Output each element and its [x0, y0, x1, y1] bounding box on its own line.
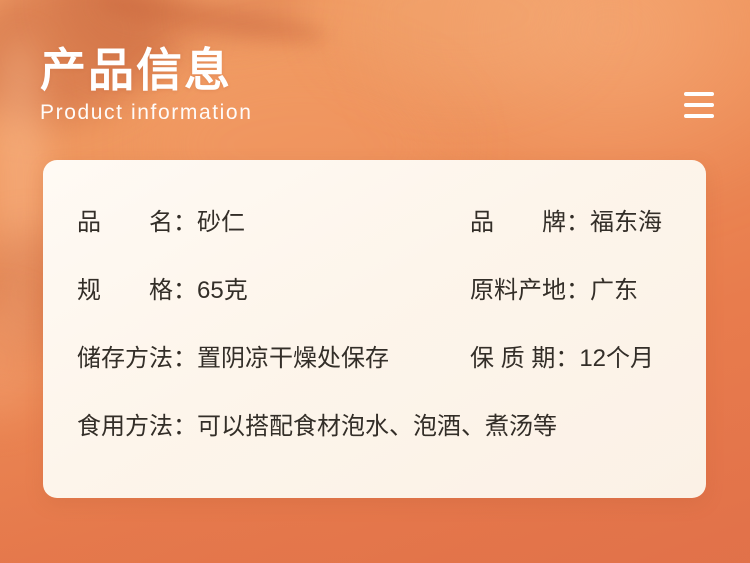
hamburger-bar-top — [684, 92, 714, 96]
product-info-card: 品 名：砂仁 品 牌：福东海 规 格：65克 原料产地：广东 储存方法：置阴凉干… — [43, 160, 706, 498]
product-information-page: 产品信息 Product information 品 名：砂仁 品 牌：福东海 … — [0, 0, 750, 563]
info-field-specification: 规 格：65克 — [77, 276, 248, 306]
hamburger-bar-middle — [684, 103, 714, 107]
hamburger-menu-icon[interactable] — [678, 84, 720, 126]
page-subtitle: Product information — [40, 100, 253, 126]
info-field-brand: 品 牌：福东海 — [470, 208, 662, 238]
page-header: 产品信息 Product information — [40, 44, 253, 126]
hamburger-bar-bottom — [684, 114, 714, 118]
info-field-origin: 原料产地：广东 — [470, 276, 638, 306]
page-title: 产品信息 — [40, 44, 253, 96]
info-field-storage-method: 储存方法：置阴凉干燥处保存 — [77, 344, 389, 374]
info-field-shelf-life: 保 质 期：12个月 — [470, 344, 654, 374]
product-info-grid: 品 名：砂仁 品 牌：福东海 规 格：65克 原料产地：广东 储存方法：置阴凉干… — [43, 160, 706, 498]
info-field-usage-method: 食用方法：可以搭配食材泡水、泡酒、煮汤等 — [77, 412, 557, 442]
info-field-product-name: 品 名：砂仁 — [77, 208, 245, 238]
